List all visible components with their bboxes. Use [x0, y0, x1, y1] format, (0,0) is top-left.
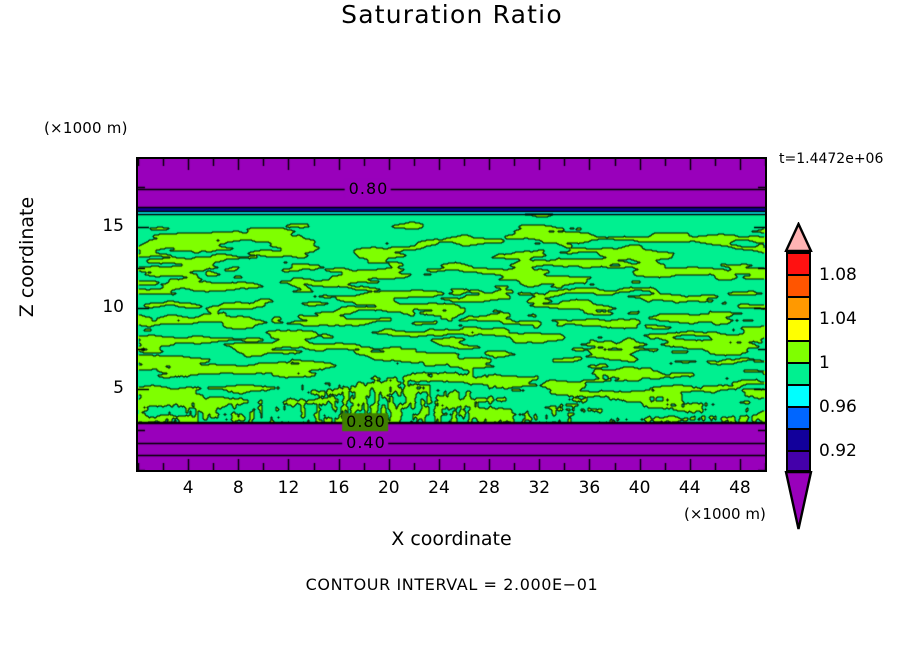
x-axis-title: X coordinate [136, 528, 767, 550]
contour-field-canvas [138, 159, 765, 470]
time-annotation: t=1.4472e+06 [779, 151, 883, 167]
colorbar-band [786, 252, 811, 274]
colorbar-band [786, 384, 811, 406]
x-tick-label: 12 [268, 478, 308, 498]
colorbar-band [786, 450, 811, 472]
x-tick-label: 28 [469, 478, 509, 498]
contour-label: 0.40 [346, 435, 386, 451]
plot-title: Saturation Ratio [0, 0, 904, 29]
x-tick-label: 20 [369, 478, 409, 498]
x-tick-label: 8 [218, 478, 258, 498]
x-tick-label: 44 [670, 478, 710, 498]
contour-plot-area: 0.800.800.40 [136, 157, 767, 472]
x-tick-label: 4 [168, 478, 208, 498]
colorbar: 1.081.0410.960.92 [783, 222, 823, 522]
y-tick-label: 10 [90, 297, 124, 317]
y-axis-title: Z coordinate [16, 172, 38, 342]
x-tick-label: 40 [620, 478, 660, 498]
y-tick-label: 5 [90, 378, 124, 398]
colorbar-band [786, 318, 811, 340]
colorbar-band [786, 428, 811, 450]
colorbar-tick-label: 0.92 [819, 441, 857, 461]
x-tick-label: 32 [519, 478, 559, 498]
colorbar-tick-label: 1.08 [819, 265, 857, 285]
x-tick-label: 24 [419, 478, 459, 498]
y-axis-units: (×1000 m) [44, 119, 128, 137]
colorbar-band [786, 340, 811, 362]
x-tick-label: 36 [569, 478, 609, 498]
x-tick-label: 48 [720, 478, 760, 498]
colorbar-bottom-cap-icon [783, 471, 823, 531]
colorbar-top-cap-icon [783, 222, 823, 252]
colorbar-bands [786, 252, 811, 472]
contour-interval-note: CONTOUR INTERVAL = 2.000E−01 [0, 575, 904, 594]
colorbar-band [786, 274, 811, 296]
contour-label: 0.80 [346, 414, 386, 430]
x-tick-label: 16 [319, 478, 359, 498]
y-tick-label: 15 [90, 216, 124, 236]
contour-label: 0.80 [349, 181, 389, 197]
x-axis-units: (×1000 m) [684, 505, 766, 523]
colorbar-tick-label: 1.04 [819, 309, 857, 329]
colorbar-tick-label: 1 [819, 353, 830, 373]
colorbar-band [786, 296, 811, 318]
colorbar-band [786, 406, 811, 428]
colorbar-band [786, 362, 811, 384]
colorbar-tick-label: 0.96 [819, 397, 857, 417]
